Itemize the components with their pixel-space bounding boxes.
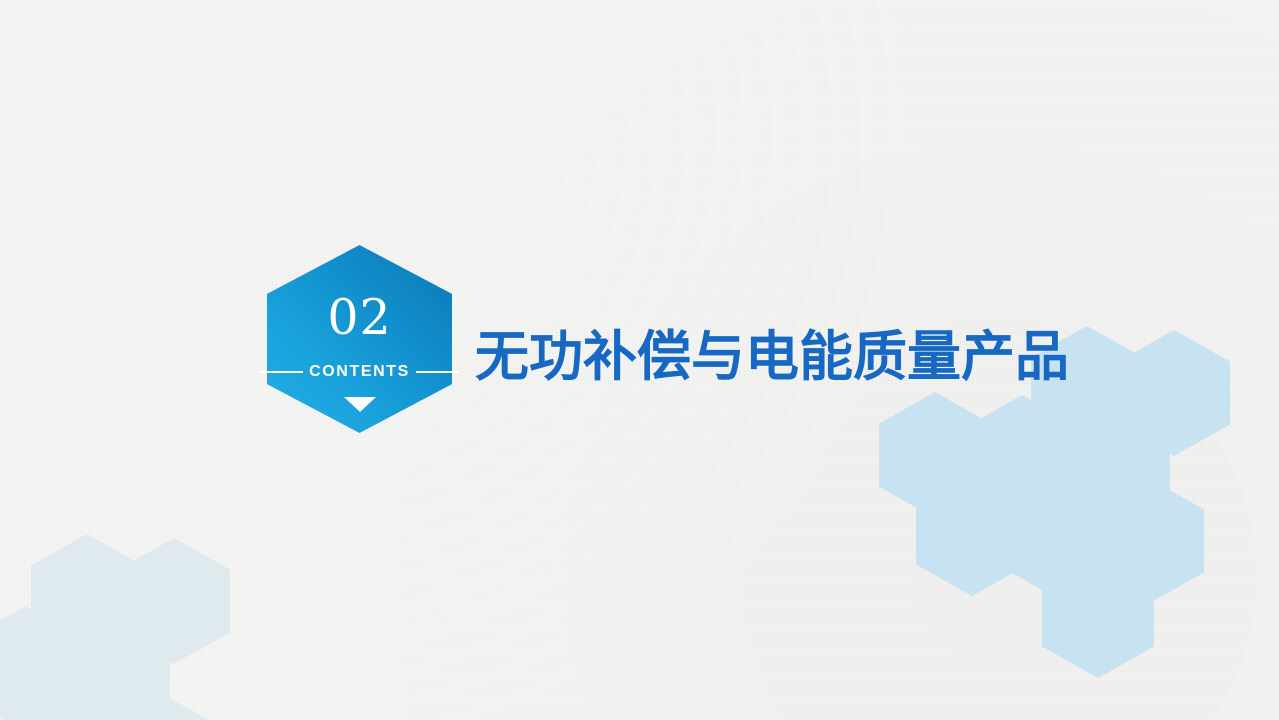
decor-right-hexagon <box>1118 330 1230 456</box>
decor-right-hexagon <box>879 392 991 518</box>
contents-row: CONTENTS <box>260 361 459 383</box>
decor-right-hexagon <box>916 470 1028 596</box>
triangle-down-icon <box>344 397 376 412</box>
slide-canvas: 02 CONTENTS 无功补偿与电能质量产品 <box>0 0 1279 720</box>
decor-left-hexagon <box>58 610 170 720</box>
decor-left-hexagon <box>31 534 143 660</box>
decor-left-hexagon <box>0 606 82 720</box>
page-title: 无功补偿与电能质量产品 <box>475 329 1069 386</box>
decor-right-hexagon <box>1058 400 1170 526</box>
decor-right-hexagon <box>1042 552 1154 678</box>
decor-left-hexagon <box>96 688 208 720</box>
section-badge[interactable]: 02 CONTENTS <box>267 245 452 433</box>
decor-right-hexagon <box>1092 478 1204 604</box>
decor-right-hexagon <box>1004 474 1116 600</box>
decor-left-hexagon <box>118 538 230 664</box>
section-number: 02 <box>267 293 452 342</box>
decor-right-hexagon <box>966 395 1078 521</box>
contents-rule-left <box>260 371 303 373</box>
contents-rule-right <box>416 371 459 373</box>
decor-left-hexagon <box>8 684 120 720</box>
contents-label: CONTENTS <box>309 364 410 380</box>
